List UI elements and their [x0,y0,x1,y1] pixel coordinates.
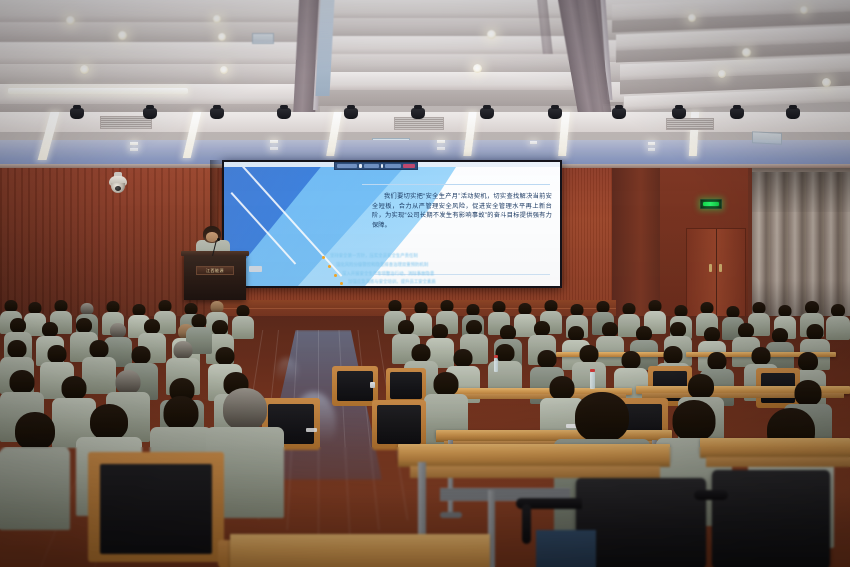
slide-sub-line: 坚持安全第一方针，压实全员安全生产责任制 [330,253,496,260]
downlight [118,31,127,40]
slide-sub-line: 强化风险分级管控和隐患排查治理双重预防机制 [336,262,498,269]
toolbar-chip[interactable] [337,164,357,168]
downlight [80,65,89,74]
seated-person-trousers [536,530,596,567]
presentation-slide: 我们要切实把“安全生产月”活动契机，切实查找解决当前安全短板，合力从严管理安全风… [224,162,560,286]
desk-foreground [230,534,490,567]
downlight [66,16,75,25]
microphone-head-icon [217,238,220,241]
door-handle[interactable] [709,264,712,272]
spotlight [786,108,800,119]
toolbar-chip-record[interactable] [403,164,415,168]
exit-sign-pictogram-icon [703,202,719,207]
wall-column [612,168,664,318]
toolbar-chip[interactable] [364,164,378,168]
head [223,388,267,430]
cup[interactable] [370,382,375,388]
spotlight [277,108,291,119]
toolbar-chip[interactable] [359,164,363,168]
chair-armrest[interactable] [694,490,728,500]
downlight [800,6,808,14]
spotlight [210,108,224,119]
conference-hall-photo: 我们要切实把“安全生产月”活动契机，切实查找解决当前安全短板，合力从严管理安全风… [0,0,850,567]
toolbar-chip[interactable] [381,164,384,168]
toolbar-chip[interactable] [385,164,401,168]
spotlight [411,108,425,119]
spotlight [730,108,744,119]
slide-bullet-dot [334,274,337,277]
spotlight [612,108,626,119]
bottle-cap [494,355,498,358]
slide-sub-line: 加强应急演练与安全培训，提升员工安全素质 [348,279,500,286]
podium-plate-text: 江西能源 [206,268,224,274]
downlight [473,64,482,73]
slide-sub-line: 深入开展安全生产专项整治行动，消除事故隐患 [342,271,500,278]
spotlight [143,108,157,119]
spotlight [548,108,562,119]
desk-foot [440,512,462,518]
podium-name-plate: 江西能源 [196,266,234,275]
chair-back-pad [100,464,212,554]
downlight [688,14,696,22]
exit-sign [700,199,722,209]
slide-body-text: 我们要切实把“安全生产月”活动契机，切实查找解决当前安全短板，合力从严管理安全风… [372,192,552,230]
spotlight [344,108,358,119]
powerpoint-toolbar[interactable] [334,162,418,170]
door-handle[interactable] [719,264,722,272]
downlight [487,30,496,39]
downlight [218,33,226,41]
audience-member [232,305,254,339]
downlight [822,78,831,87]
spotlight [672,108,686,119]
paper-sheet[interactable] [306,428,317,432]
slide-bullet-dot [340,282,343,285]
downlight [213,15,221,23]
downlight [718,70,726,78]
water-bottle[interactable] [590,372,595,389]
chair-back-pad [377,405,421,444]
podium-top [181,251,249,256]
podium-badge [249,266,262,272]
downlight [742,48,751,57]
camera-lens-icon [115,186,121,191]
downlight [220,66,228,74]
audience-member [0,412,70,530]
spotlight [70,108,84,119]
spotlight [480,108,494,119]
chair-armrest[interactable] [522,504,531,544]
office-chair[interactable] [712,470,830,567]
linear-slot-light [8,88,188,94]
head [575,392,629,442]
ceiling [0,0,850,168]
projection-screen: 我们要切实把“安全生产月”活动契机，切实查找解决当前安全短板，合力从严管理安全风… [222,160,562,288]
chair-back-pad [337,371,373,401]
slide-bullet-dot [322,256,325,259]
podium [184,254,246,300]
ptz-dome-camera [108,172,128,194]
bottle-cap [590,369,595,372]
water-bottle[interactable] [494,358,498,372]
chair-back-pad [390,372,422,399]
hvac-grille [666,118,714,130]
slide-bullet-dot [328,265,331,268]
